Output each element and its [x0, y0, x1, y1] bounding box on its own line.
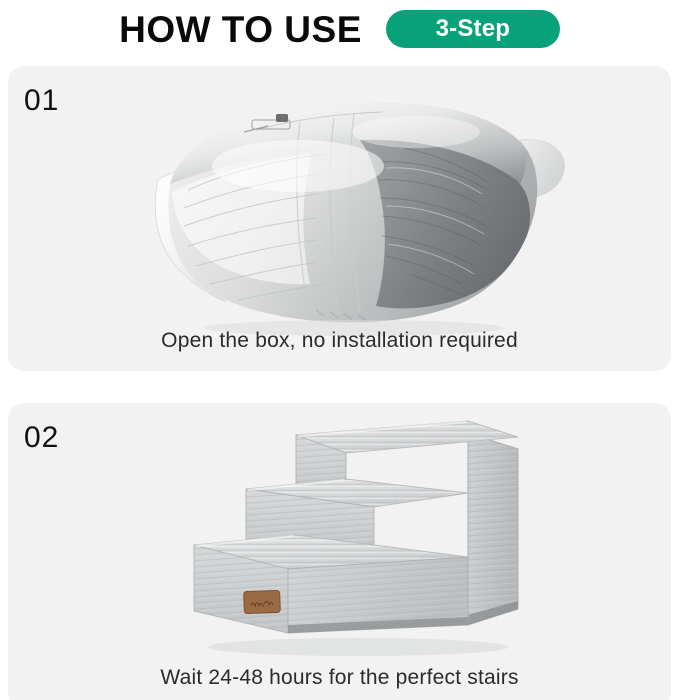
package-body	[148, 88, 568, 343]
compressed-foam-package-illustration	[148, 88, 568, 343]
step-card-01: 01	[8, 66, 671, 371]
pet-stairs-illustration	[168, 411, 548, 661]
header: HOW TO USE 3-Step	[0, 0, 679, 58]
step-caption-01: Open the box, no installation required	[8, 328, 671, 353]
compressed-foam-package-photo	[148, 88, 568, 343]
step-count-badge: 3-Step	[386, 10, 560, 48]
step-caption-02: Wait 24-48 hours for the perfect stairs	[8, 665, 671, 690]
brand-leather-tag	[244, 590, 281, 613]
step-card-02: 02	[8, 403, 671, 700]
stairs-step-1	[194, 535, 468, 633]
pet-stairs-photo	[168, 411, 548, 661]
step-number-02: 02	[24, 423, 59, 453]
page-title: HOW TO USE	[119, 11, 362, 48]
step-number-01: 01	[24, 86, 59, 116]
stairs-right-side-panel	[468, 433, 518, 625]
stairs-contact-shadow	[208, 638, 508, 656]
how-to-use-panel: HOW TO USE 3-Step 01	[0, 0, 679, 700]
